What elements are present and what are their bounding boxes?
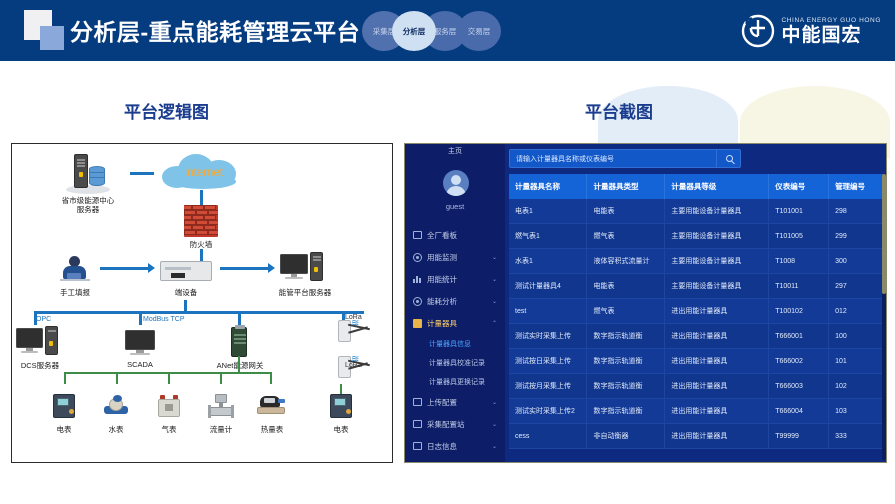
logo-mark-icon [741,14,775,48]
cell-management-no: 103 [829,399,884,424]
link-server-internet [130,172,154,175]
cell-device-level: 主要用能设备计量器具 [665,249,769,274]
cell-device-type: 燃气表 [587,224,665,249]
cell-device-level: 进出用能计量器具 [665,399,769,424]
cell-device-level: 进出用能计量器具 [665,299,769,324]
node-energy-center-server [64,154,112,194]
label-meter-2: 气表 [147,424,191,435]
cell-device-level: 进出用能计量器具 [665,349,769,374]
cell-instrument-no: T666002 [769,349,829,374]
sidebar-item-label: 用能统计 [427,274,457,285]
sidebar-item-metering-devices[interactable]: 计量器具 ⌃ [405,312,505,334]
scrollbar-thumb[interactable] [882,174,886,294]
water-meter-icon [104,396,128,418]
platform-logic-diagram: 省市级能源中心 服务器 Internet 防火墙 手工填报 端设备 [11,143,393,463]
table-scrollbar[interactable] [882,174,886,460]
cell-instrument-no: T10011 [769,274,829,299]
cell-device-type: 数字指示轨道衡 [587,374,665,399]
label-meter-1: 水表 [94,424,138,435]
sidebar-item-label: 能耗分析 [427,296,457,307]
table-row[interactable]: 水表1 液体容积式流量计 主要用能设备计量器具 T1008 300 [509,249,884,274]
green-drop-3 [168,372,170,384]
column-header-instrument-no[interactable]: 仪表编号 [769,174,829,199]
cell-device-name: 测试按日采集上传 [509,349,587,374]
sidebar-item-log-info[interactable]: 日志信息 ⌄ [405,435,505,457]
cell-instrument-no: T100102 [769,299,829,324]
column-header-device-name[interactable]: 计量器具名称 [509,174,587,199]
sidebar-item-label: 采集配置站 [427,419,465,430]
meter-icon [413,319,423,328]
sidebar-item-energy-monitor[interactable]: 用能监测 ⌄ [405,246,505,268]
monitor-icon [413,253,423,262]
cell-management-no: 333 [829,424,884,449]
link-edge-platform [220,267,268,270]
sidebar-home-link[interactable]: 主页 [405,146,505,156]
search-input[interactable]: 请输入计量器具名称或仪表编号 [509,149,741,168]
sidebar-item-dashboard[interactable]: 全厂看板 [405,224,505,246]
link-firewall-edge [200,249,203,261]
cell-device-name: 燃气表1 [509,224,587,249]
chevron-down-icon: ⌄ [492,443,497,450]
label-line-2: 服务器 [77,205,100,214]
sidebar-menu: 全厂看板 用能监测 ⌄ 用能统计 ⌄ 能耗分析 ⌄ 计量器具 ⌃ [405,224,505,457]
column-header-device-type[interactable]: 计量器具类型 [587,174,665,199]
sidebar-username: guest [405,202,505,211]
node-internet-cloud: Internet [158,150,246,190]
cell-instrument-no: T101005 [769,224,829,249]
sidebar-item-label: 上传配置 [427,397,457,408]
chevron-down-icon: ⌄ [492,399,497,406]
green-drop-1 [64,372,66,384]
server-base-shadow [66,185,110,194]
meter-heat [257,396,285,418]
label-internet: Internet [184,167,223,179]
node-anet-gateway-icon [231,327,247,357]
cell-device-level: 进出用能计量器具 [665,324,769,349]
sidebar-item-energy-statistics[interactable]: 用能统计 ⌄ [405,268,505,290]
cell-device-level: 主要用能设备计量器具 [665,224,769,249]
logo-chinese-name: 中能国宏 [781,26,881,45]
node-scada-monitor-icon [125,330,155,356]
avatar[interactable] [443,170,469,196]
server-tower-icon [74,154,88,188]
bus-drop-anet [238,311,241,325]
meter-electric-2 [330,394,352,418]
cell-device-level: 进出用能计量器具 [665,424,769,449]
table-row[interactable]: 测试按日采集上传 数字指示轨道衡 进出用能计量器具 T666002 101 [509,349,884,374]
chevron-up-icon: ⌃ [492,320,497,327]
app-sidebar: 主页 guest 全厂看板 用能监测 ⌄ 用能统计 ⌄ 能耗分析 ⌄ [405,144,505,463]
green-drop-2 [116,372,118,384]
search-icon [726,155,733,162]
cell-device-name: 测试按月采集上传 [509,374,587,399]
sidebar-item-label: 日志信息 [427,441,457,452]
chevron-down-icon: ⌄ [492,298,497,305]
sidebar-subitem-device-info[interactable]: 计量器具信息 [405,334,505,353]
cell-instrument-no: T99999 [769,424,829,449]
green-drop-5 [270,372,272,384]
label-manual-entry: 手工填报 [45,287,105,298]
monitor-icon [280,254,308,280]
meter-electric-1 [53,394,75,418]
upload-config-icon [413,398,423,407]
cell-device-name: 水表1 [509,249,587,274]
node-lora-device-top: ≋ [338,320,378,346]
server-tower-icon [45,326,58,355]
meter-water [104,396,128,418]
cell-instrument-no: T666001 [769,324,829,349]
search-row: 请输入计量器具名称或仪表编号 [505,146,887,172]
chevron-down-icon: ⌄ [492,276,497,283]
cell-device-level: 主要用能设备计量器具 [665,199,769,224]
table-row[interactable]: 测试计量器具4 电能表 主要用能设备计量器具 T10011 297 [509,274,884,299]
analysis-icon [413,297,423,306]
label-energy-center-server: 省市级能源中心 服务器 [52,196,124,215]
page-title: 分析层-重点能耗管理云平台 [70,13,360,47]
cell-management-no: 102 [829,374,884,399]
search-button[interactable] [716,149,741,168]
sidebar-subitem-replacement-record[interactable]: 计量器具更换记录 [405,372,505,391]
meter-gas [158,395,180,417]
metering-device-table: 计量器具名称 计量器具类型 计量器具等级 仪表编号 管理编号 电表1 电能表 主… [509,174,884,449]
cell-device-name: 测试实时采集上传2 [509,399,587,424]
column-header-management-no[interactable]: 管理编号 [829,174,884,199]
cell-management-no: 299 [829,224,884,249]
flow-meter-icon [208,394,234,418]
gas-meter-icon [158,395,180,417]
label-meter-4: 热量表 [250,424,294,435]
label-lora-bottom: LoRa [345,362,362,369]
label-line-1: 省市级能源中心 [62,196,115,205]
sidebar-item-label: 全厂看板 [427,230,457,241]
table-row[interactable]: 电表1 电能表 主要用能设备计量器具 T101001 298 [509,199,884,224]
sidebar-item-label: 计量器具 [427,318,457,329]
log-icon [413,442,423,451]
label-meter-0: 电表 [42,424,86,435]
table-row[interactable]: cess 非自动衡器 进出用能计量器具 T99999 333 [509,424,884,449]
label-anet-gateway: ANet能源网关 [210,360,270,371]
cell-device-type: 数字指示轨道衡 [587,349,665,374]
label-protocol-modbus: ModBus TCP [143,316,185,323]
label-meter-5: 电表 [319,424,363,435]
heat-meter-icon [257,396,285,418]
cell-management-no: 300 [829,249,884,274]
company-logo: CHINA ENERGY GUO HONG 中能国宏 [741,12,881,50]
cell-management-no: 298 [829,199,884,224]
sidebar-item-label: 用能监测 [427,252,457,263]
cell-instrument-no: T666003 [769,374,829,399]
table-row[interactable]: 测试实时采集上传 数字指示轨道衡 进出用能计量器具 T666001 100 [509,324,884,349]
cell-device-type: 数字指示轨道衡 [587,324,665,349]
cell-management-no: 101 [829,349,884,374]
chevron-down-icon: ⌄ [492,421,497,428]
table-row[interactable]: 测试按月采集上传 数字指示轨道衡 进出用能计量器具 T666003 102 [509,374,884,399]
cell-device-level: 主要用能设备计量器具 [665,274,769,299]
sidebar-item-upload-config[interactable]: 上传配置 ⌄ [405,391,505,413]
chevron-down-icon: ⌄ [492,254,497,261]
node-dcs-server [16,326,60,356]
arrow-head-edge-platform [268,263,275,273]
column-header-device-level[interactable]: 计量器具等级 [665,174,769,199]
sidebar-subitem-calibration-record[interactable]: 计量器具校准记录 [405,353,505,372]
node-manual-entry-icon [60,256,90,282]
cell-device-name: test [509,299,587,324]
table-row[interactable]: test 燃气表 进出用能计量器具 T100102 012 [509,299,884,324]
table-row[interactable]: 燃气表1 燃气表 主要用能设备计量器具 T101005 299 [509,224,884,249]
square-blue-icon [40,26,64,50]
section-title-logic-diagram: 平台逻辑图 [124,98,209,123]
label-dcs-server: DCS服务器 [12,360,68,371]
server-tower-icon [310,252,323,281]
cell-device-type: 燃气表 [587,299,665,324]
label-meter-3: 流量计 [199,424,243,435]
pill-analysis-layer[interactable]: 分析层 [392,11,436,51]
section-title-screenshot: 平台截图 [585,98,653,123]
cell-management-no: 012 [829,299,884,324]
bus-drop-scada [139,311,142,325]
label-platform-server: 能管平台服务器 [270,287,340,298]
label-scada: SCADA [118,360,162,369]
green-bus-stem [238,356,240,373]
node-firewall-icon [184,205,218,237]
database-cylinder-icon [89,166,105,186]
layer-pill-group: 采集层 服务层 交易层 分析层 [362,11,507,51]
bus-horizontal [34,311,364,314]
app-main-content: 请输入计量器具名称或仪表编号 计量器具名称 计量器具类型 计量器具等级 仪表编号… [505,144,887,463]
cell-instrument-no: T1008 [769,249,829,274]
cell-device-type: 液体容积式流量计 [587,249,665,274]
node-edge-device-icon [160,261,212,281]
cell-instrument-no: T101001 [769,199,829,224]
sidebar-item-energy-analysis[interactable]: 能耗分析 ⌄ [405,290,505,312]
cell-device-type: 数字指示轨道衡 [587,399,665,424]
monitor-icon [16,328,43,354]
electric-meter-icon [53,394,75,418]
meter-flow [208,394,234,418]
link-manual-edge [100,267,148,270]
link-internet-firewall [200,190,203,205]
cell-device-type: 非自动衡器 [587,424,665,449]
page-header: 分析层-重点能耗管理云平台 采集层 服务层 交易层 分析层 CHINA ENER… [0,0,895,61]
platform-screenshot: 主页 guest 全厂看板 用能监测 ⌄ 用能统计 ⌄ 能耗分析 ⌄ [404,143,887,463]
electric-meter-icon [330,394,352,418]
sidebar-item-collect-config-station[interactable]: 采集配置站 ⌄ [405,413,505,435]
statistics-icon [413,275,423,284]
label-protocol-opc: OPC [36,316,51,323]
cell-device-type: 电能表 [587,274,665,299]
cell-device-name: 测试计量器具4 [509,274,587,299]
arrow-head-manual-edge [148,263,155,273]
table-header-row: 计量器具名称 计量器具类型 计量器具等级 仪表编号 管理编号 [509,174,884,199]
cell-device-name: cess [509,424,587,449]
cell-device-name: 测试实时采集上传 [509,324,587,349]
label-edge-device: 端设备 [156,287,216,298]
green-drop-4 [220,372,222,384]
cell-device-type: 电能表 [587,199,665,224]
cell-management-no: 100 [829,324,884,349]
cell-management-no: 297 [829,274,884,299]
dashboard-icon [413,231,423,240]
table-body: 电表1 电能表 主要用能设备计量器具 T101001 298 燃气表1 燃气表 … [509,199,884,449]
cell-instrument-no: T666004 [769,399,829,424]
table-row[interactable]: 测试实时采集上传2 数字指示轨道衡 进出用能计量器具 T666004 103 [509,399,884,424]
node-lora-device-bottom: ≋ [338,356,378,382]
cell-device-name: 电表1 [509,199,587,224]
cell-device-level: 进出用能计量器具 [665,374,769,399]
node-platform-server [280,252,326,282]
label-lora-top: LoRa [345,314,362,321]
collect-config-icon [413,420,423,429]
logo-english-name: CHINA ENERGY GUO HONG [781,17,881,24]
